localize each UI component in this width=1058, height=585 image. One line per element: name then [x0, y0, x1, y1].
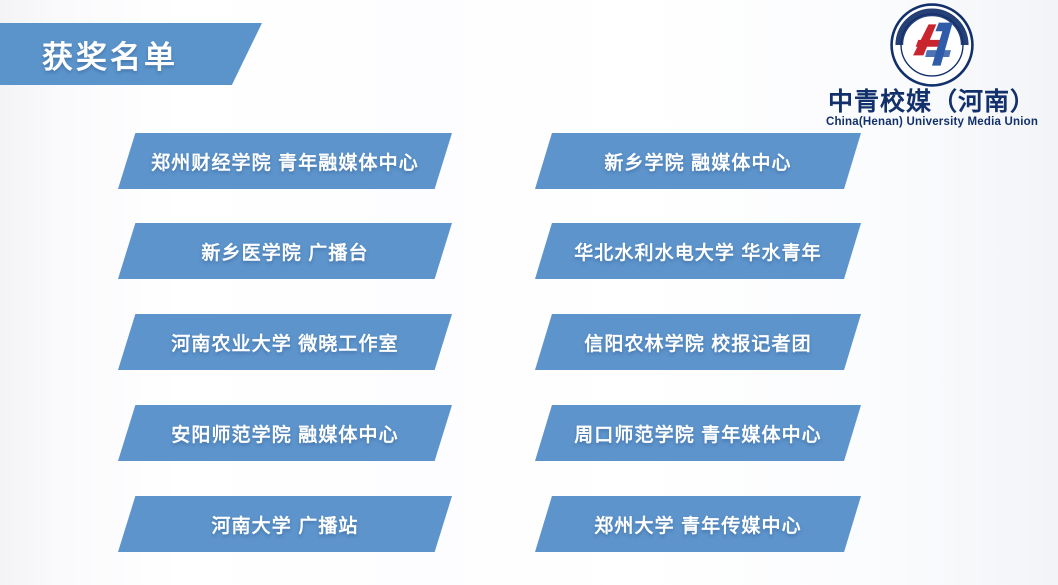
award-badge: 信阳农林学院 校报记者团: [535, 314, 861, 370]
award-badge: 安阳师范学院 融媒体中心: [118, 405, 452, 461]
award-badge-label: 郑州大学 青年传媒中心: [594, 511, 801, 538]
award-list-grid: 郑州财经学院 青年融媒体中心 新乡学院 融媒体中心 新乡医学院 广播台 华北水利…: [0, 0, 1058, 585]
award-badge: 河南农业大学 微晓工作室: [118, 314, 452, 370]
award-badge: 新乡医学院 广播台: [118, 223, 452, 279]
award-badge-label: 华北水利水电大学 华水青年: [574, 238, 822, 265]
award-badge-label: 河南大学 广播站: [211, 511, 358, 538]
award-badge-label: 信阳农林学院 校报记者团: [584, 329, 811, 356]
award-badge: 郑州财经学院 青年融媒体中心: [118, 133, 452, 189]
award-badge-label: 周口师范学院 青年媒体中心: [574, 420, 822, 447]
award-badge: 新乡学院 融媒体中心: [535, 133, 861, 189]
award-badge: 华北水利水电大学 华水青年: [535, 223, 861, 279]
award-badge-label: 新乡医学院 广播台: [201, 238, 368, 265]
award-badge: 河南大学 广播站: [118, 496, 452, 552]
award-badge-label: 河南农业大学 微晓工作室: [171, 329, 398, 356]
award-badge-label: 郑州财经学院 青年融媒体中心: [151, 148, 419, 175]
award-badge: 郑州大学 青年传媒中心: [535, 496, 861, 552]
award-badge-label: 新乡学院 融媒体中心: [604, 148, 791, 175]
award-badge-label: 安阳师范学院 融媒体中心: [171, 420, 398, 447]
award-badge: 周口师范学院 青年媒体中心: [535, 405, 861, 461]
